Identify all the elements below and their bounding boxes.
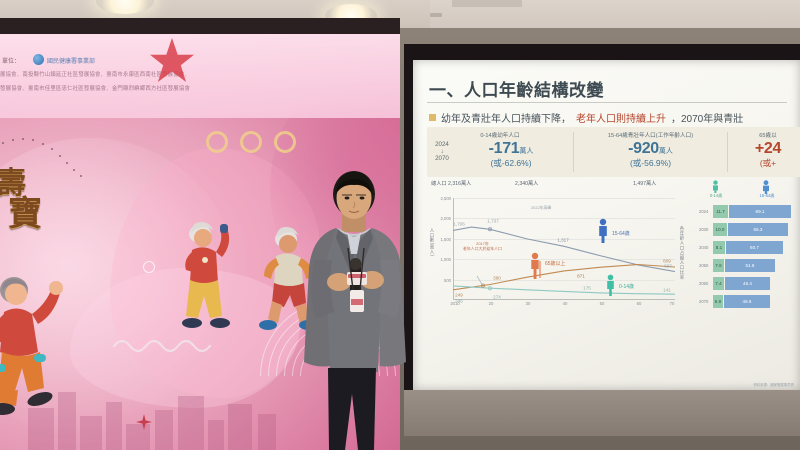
- chart-ytick-3: 1,000: [441, 257, 451, 262]
- projection-screen: 一、人口年齡結構改變 幼年及青壯年人口持續下降， 老年人口則持續上升 ，2070…: [413, 60, 800, 390]
- bullet-text-part-a: 幼年及青壯年人口持續下降，: [441, 110, 571, 125]
- chart-label-274: 274: [493, 295, 501, 300]
- table-row-year: 2070: [699, 299, 708, 304]
- table-bar-children: 10.0: [713, 223, 727, 236]
- chart-label-1706: 1,706: [453, 222, 465, 227]
- child-figure-icon: [605, 274, 616, 296]
- slide-bullet: 幼年及青壯年人口持續下降， 老年人口則持續上升 ，2070年與青壯: [429, 110, 743, 125]
- scene-root: 單位： 國民健康署事業部 展協會、南投縣竹山鎮延正社區發展協會、臺南市永康區西南…: [0, 0, 800, 450]
- illustration-elder-waving: [0, 268, 74, 418]
- table-bar-children: 7.6: [713, 259, 724, 272]
- kpi-value-elderly: +24: [755, 140, 781, 157]
- chart-xtick-5: 60: [637, 301, 642, 306]
- table-bar-children: 8.1: [713, 241, 725, 254]
- elderly-figure-icon: [529, 252, 543, 280]
- chart-legend-elderly: 65歲以上: [545, 260, 566, 267]
- decor-ring-2: [240, 131, 262, 153]
- chart-annotation-peak: 2022年高峰: [531, 205, 551, 211]
- child-icon: [711, 180, 720, 193]
- kpi-value-children: -171: [489, 140, 520, 157]
- presenter: [292, 168, 422, 450]
- kpi-header-elderly: 65歲以: [728, 131, 800, 139]
- kpi-value-working-age: -920: [628, 140, 659, 157]
- total-population-label-2: 2,340萬人: [515, 180, 538, 187]
- kpi-header-working-age: 15-64歲青壯年人口(工作年齡人口): [574, 131, 727, 139]
- bullet-text-part-c: ，2070年與青壯: [671, 110, 743, 125]
- table-bar-working-age: 69.1: [729, 205, 791, 218]
- chart-xtick-4: 50: [600, 301, 605, 306]
- chart-plot-area: 2,500 2,000 1,500 1,000 500 2010 20 30 4…: [453, 198, 675, 300]
- table-header-working-age: 15-64歲: [760, 193, 775, 199]
- chart-label-380: 380: [493, 276, 501, 281]
- presentation-slide: 一、人口年齡結構改變 幼年及青壯年人口持續下降， 老年人口則持續上升 ，2070…: [413, 60, 800, 390]
- chart-legend-children: 0-14歲: [619, 283, 634, 290]
- chart-ytick-4: 500: [444, 278, 451, 283]
- backdrop-unit-label: 單位：: [2, 56, 20, 65]
- table-row-year: 2040: [699, 245, 708, 250]
- chart-xtick-2: 30: [526, 301, 531, 306]
- decor-ring-small: [143, 261, 155, 273]
- table-row: 2050 7.6 51.8: [699, 258, 795, 274]
- bullet-text-part-b: 老年人口則持續上升: [576, 110, 666, 125]
- population-line-chart: 總人口 2,316萬人 2,340萬人 1,497萬人 人口數(萬人) 各年齡人…: [421, 180, 693, 320]
- table-bar-children: 11.7: [713, 205, 728, 218]
- adult-figure-icon: [597, 218, 609, 244]
- illustration-elder-sidebend: [178, 218, 240, 342]
- chart-label-1737: 1,737: [487, 219, 499, 224]
- chart-label-697: 697: [664, 264, 672, 269]
- age-structure-table: 0-14歲 15-64歲 2024 11.7 69.1 2030 10.0 65…: [699, 180, 795, 320]
- kpi-card-children: 0-14歲幼年人口 2024 ↓ 2070 -171萬人 (或-62.6%): [427, 127, 573, 177]
- kpi-card-working-age: 15-64歲青壯年人口(工作年齡人口) -920萬人 (或-56.9%): [574, 127, 727, 177]
- slide-title: 一、人口年齡結構改變: [429, 76, 604, 101]
- adult-icon: [761, 180, 771, 194]
- chart-label-1317: 1,317: [557, 238, 569, 243]
- table-row-year: 2024: [699, 209, 708, 214]
- chart-label-249: 249: [455, 293, 463, 298]
- table-row-year: 2060: [699, 281, 708, 286]
- backdrop-partner-line-2: 發展協會、臺南市佳里區忠仁社區發展協會、金門縣烈嶼鄉西方社區發展協會: [0, 84, 190, 92]
- decor-ring-1: [206, 131, 228, 153]
- total-population-label-1: 總人口 2,316萬人: [431, 180, 471, 187]
- chart-y-axis-right-title: 各年齡人口占總人口比率: [679, 226, 685, 280]
- chart-label-871: 871: [577, 274, 585, 279]
- chart-label-809: 809: [663, 259, 671, 264]
- chart-xtick-3: 40: [563, 301, 568, 306]
- bullet-square-icon: [429, 114, 436, 121]
- table-row: 2030 10.0 65.3: [699, 222, 795, 238]
- chart-ytick-2: 1,500: [441, 237, 451, 242]
- table-header-children: 0-14歲: [710, 193, 723, 199]
- table-bar-working-age: 45.4: [725, 277, 770, 290]
- chart-label-141: 141: [663, 288, 671, 293]
- kpi-band: 0-14歲幼年人口 2024 ↓ 2070 -171萬人 (或-62.6%) 1…: [427, 127, 800, 177]
- slide-source-note: 資料來源：國家發展委員會: [753, 382, 794, 387]
- kpi-unit-working-age: 萬人: [659, 148, 673, 155]
- table-bar-working-age: 46.6: [724, 295, 770, 308]
- table-row: 2060 7.4 45.4: [699, 276, 795, 292]
- kpi-pct-children: (或-62.6%): [451, 157, 571, 169]
- chart-ytick-0: 2,500: [441, 196, 451, 201]
- table-bar-working-age: 51.8: [725, 259, 775, 272]
- table-row: 2040 8.1 60.7: [699, 240, 795, 256]
- table-bar-working-age: 65.3: [728, 223, 788, 236]
- kpi-pct-working-age: (或-56.9%): [576, 157, 725, 169]
- title-divider: [427, 102, 787, 103]
- chart-xtick-1: 20: [489, 301, 494, 306]
- kpi-pct-elderly: (或+: [730, 157, 800, 169]
- table-header-row: 0-14歲 15-64歲: [699, 180, 795, 202]
- chart-label-175: 175: [583, 286, 591, 291]
- table-row: 2070 5.9 46.6: [699, 294, 795, 310]
- wall-below-screen: [404, 390, 800, 436]
- organization-logo-icon: [33, 54, 44, 65]
- kpi-card-elderly: 65歲以 +24 (或+: [728, 127, 800, 177]
- gold-character-2: 寶: [8, 186, 42, 235]
- total-population-label-3: 1,497萬人: [633, 180, 656, 187]
- table-bar-working-age: 60.7: [726, 241, 783, 254]
- decor-ring-3: [274, 131, 296, 153]
- table-bar-children: 5.9: [713, 295, 723, 308]
- chart-legend-working-age: 15-64歲: [612, 230, 630, 237]
- table-bar-children: 7.4: [713, 277, 724, 290]
- chart-annotation-crossover: 2017年老年人口大於幼年人口: [463, 242, 502, 252]
- chart-label-346: 346: [455, 299, 463, 304]
- kpi-unit-children: 萬人: [519, 148, 533, 155]
- decor-dotted-curve: [0, 136, 100, 176]
- kpi-header-children: 0-14歲幼年人口: [427, 131, 573, 139]
- chart-ytick-1: 2,000: [441, 216, 451, 221]
- downlight-left: [96, 0, 154, 14]
- organization-logo-label: 國民健康署事業部: [47, 56, 95, 65]
- table-row: 2024 11.7 69.1: [699, 204, 795, 220]
- table-row-year: 2050: [699, 263, 708, 268]
- chart-y-axis-title: 人口數(萬人): [429, 228, 435, 256]
- table-row-year: 2030: [699, 227, 708, 232]
- chart-xtick-6: 70: [670, 301, 675, 306]
